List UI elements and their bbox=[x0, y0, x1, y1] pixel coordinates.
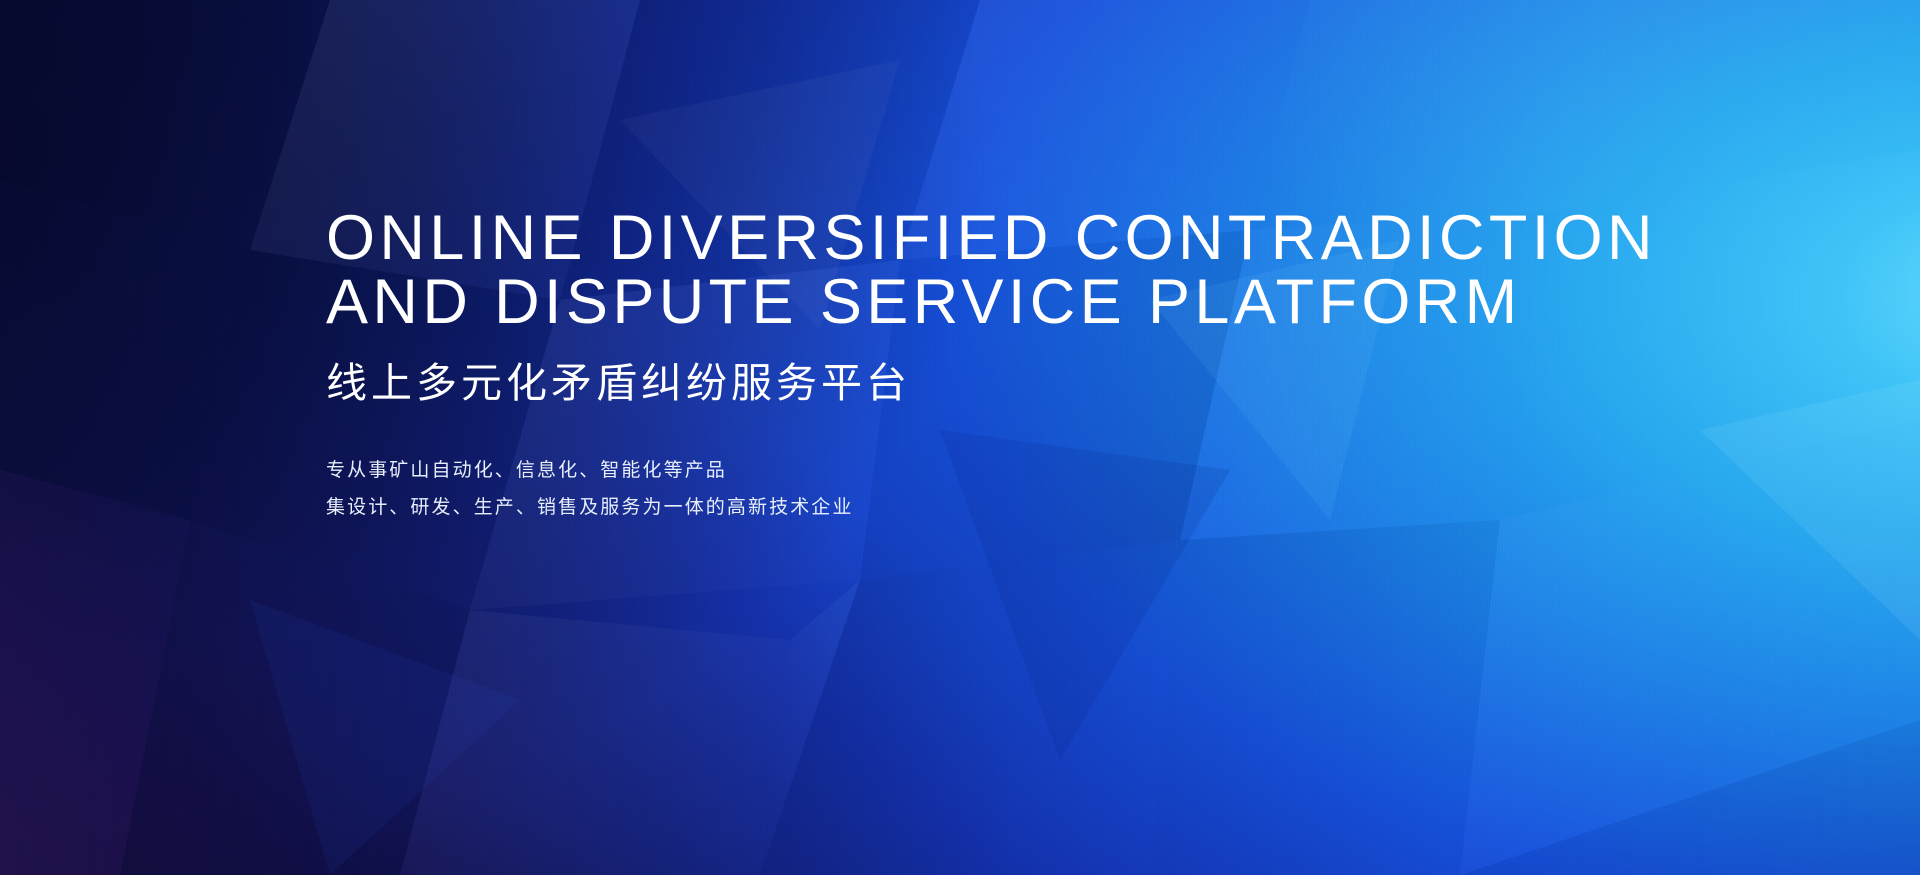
hero-banner: ONLINE DIVERSIFIED CONTRADICTION AND DIS… bbox=[0, 0, 1920, 875]
hero-headline-english: ONLINE DIVERSIFIED CONTRADICTION AND DIS… bbox=[326, 206, 1586, 335]
hero-description: 专从事矿山自动化、信息化、智能化等产品 集设计、研发、生产、销售及服务为一体的高… bbox=[326, 452, 1586, 526]
headline-line-2: AND DISPUTE SERVICE PLATFORM bbox=[326, 270, 1586, 334]
headline-line-1: ONLINE DIVERSIFIED CONTRADICTION bbox=[326, 206, 1586, 270]
description-line-2: 集设计、研发、生产、销售及服务为一体的高新技术企业 bbox=[326, 489, 1586, 526]
hero-content: ONLINE DIVERSIFIED CONTRADICTION AND DIS… bbox=[326, 206, 1586, 526]
hero-subheadline-chinese: 线上多元化矛盾纠纷服务平台 bbox=[326, 361, 1586, 406]
description-line-1: 专从事矿山自动化、信息化、智能化等产品 bbox=[326, 452, 1586, 489]
